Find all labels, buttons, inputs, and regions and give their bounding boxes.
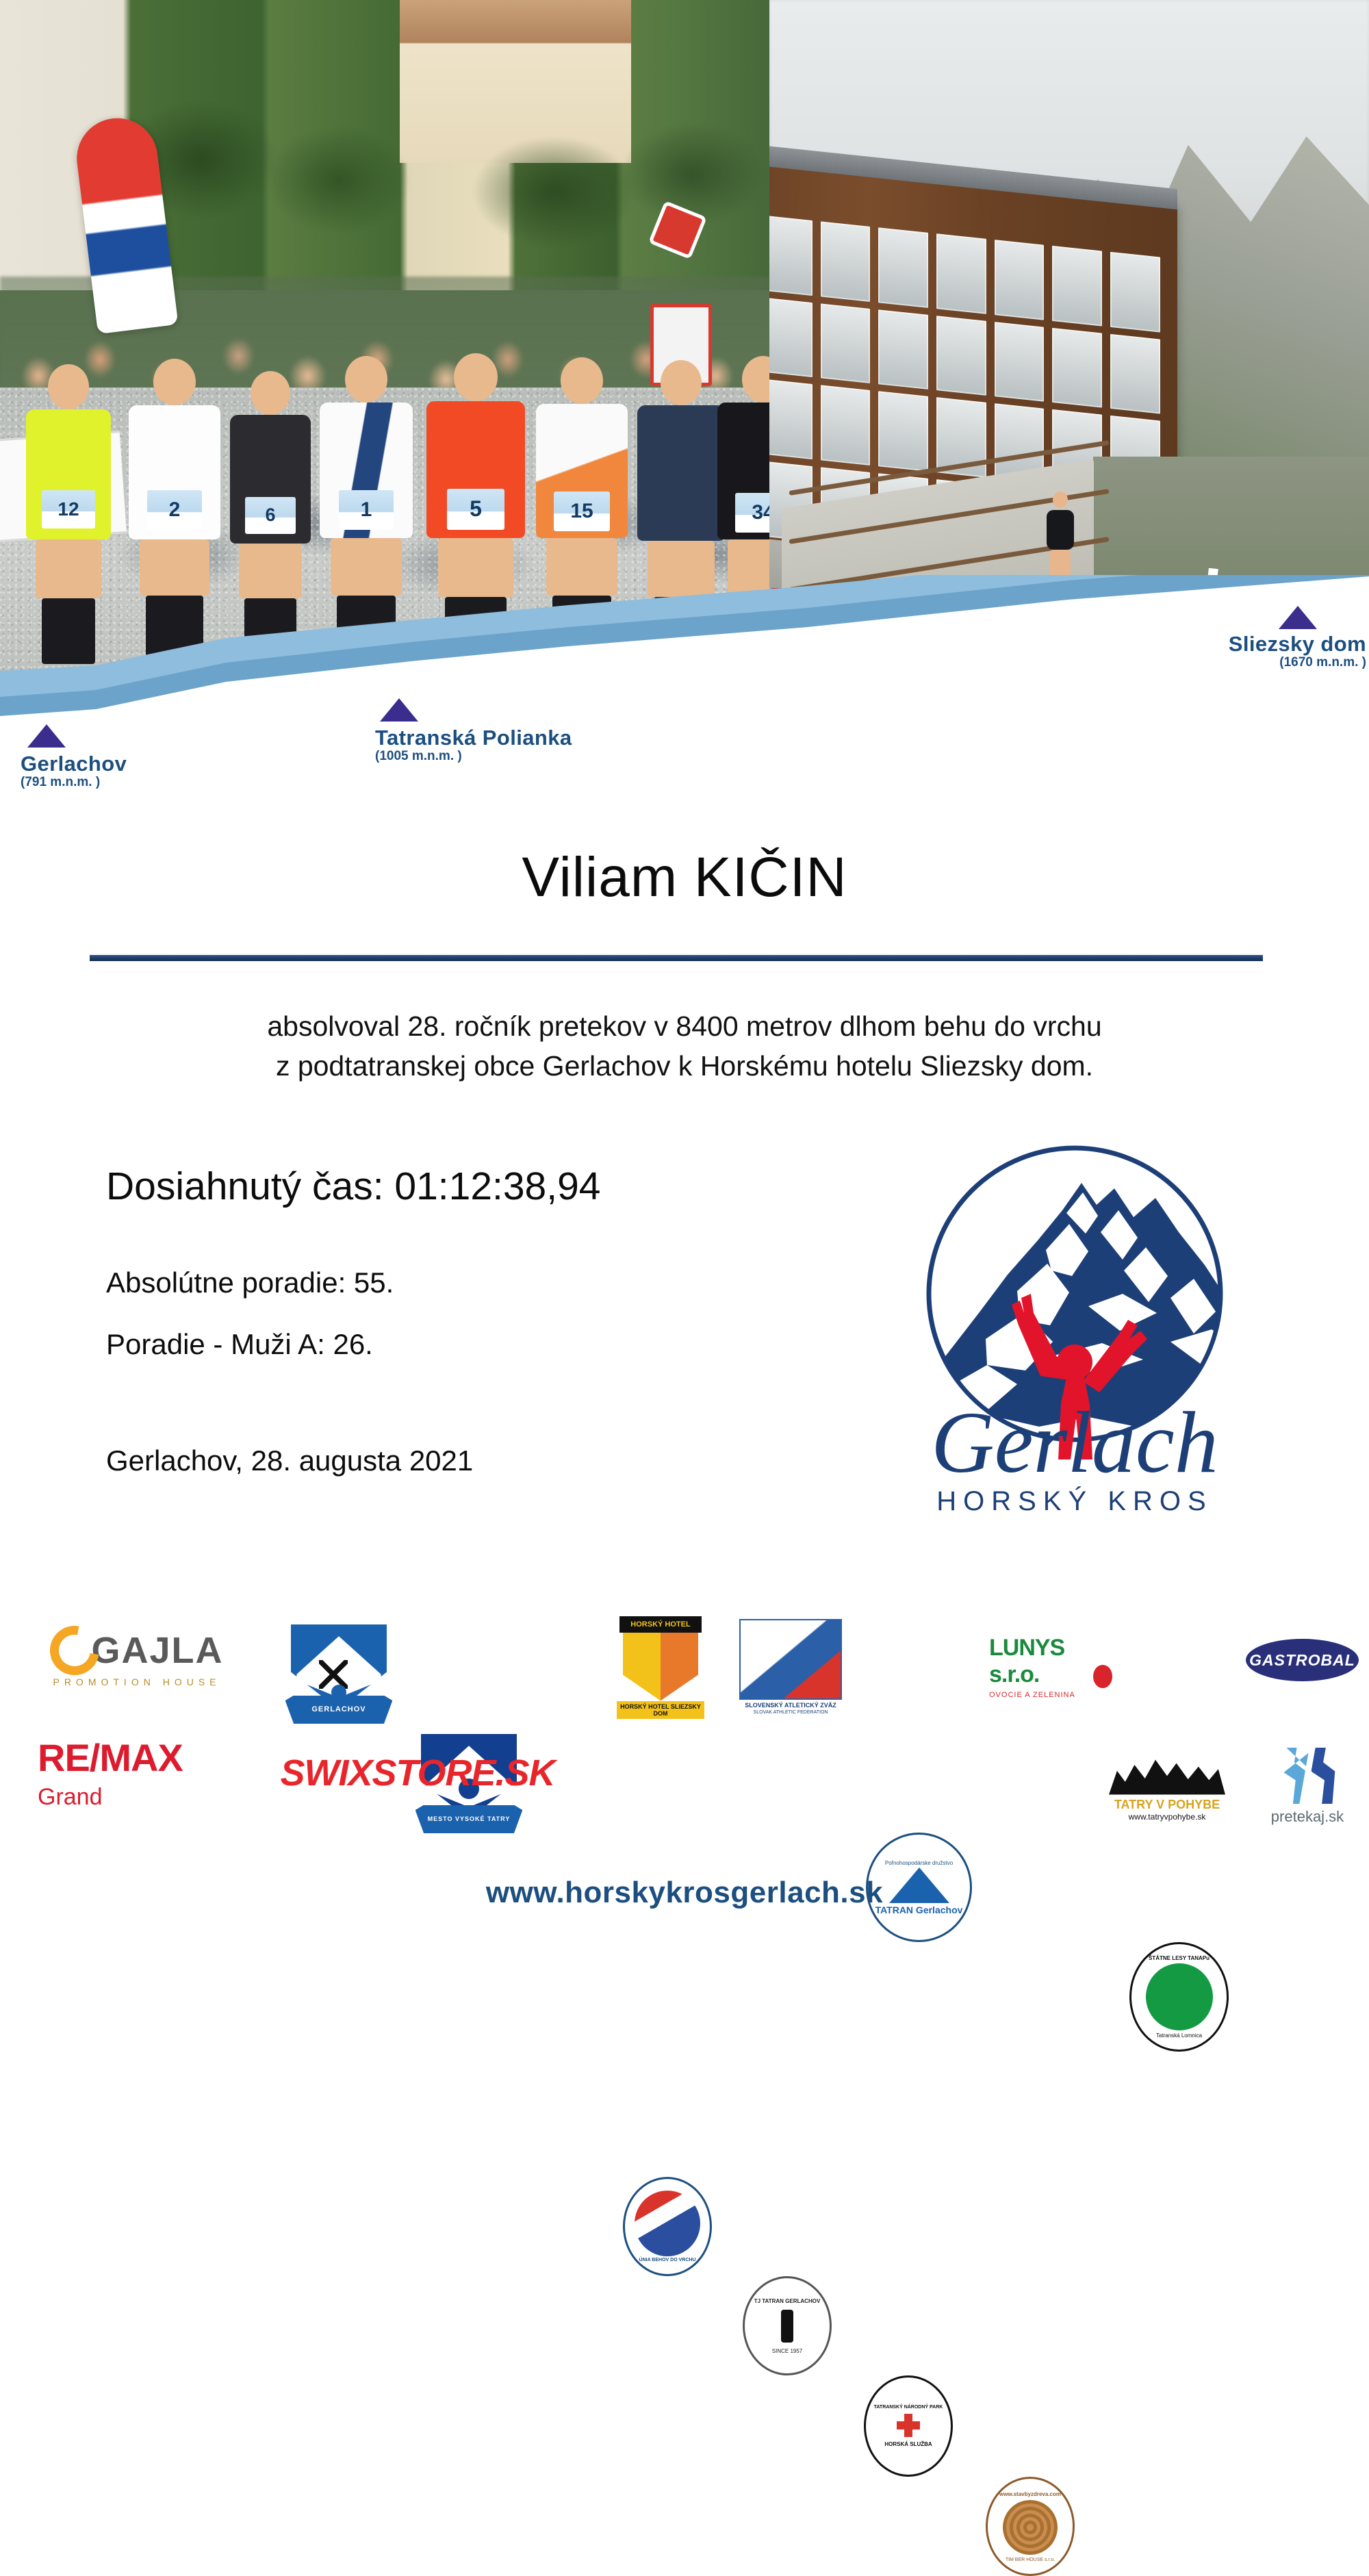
sponsor-name: TJ TATRAN GERLACHOV <box>754 2298 821 2304</box>
sponsor-tj-tatran-gerlachov: TJ TATRAN GERLACHOV SINCE 1957 <box>743 2276 832 2375</box>
runner-1: 12 <box>21 364 116 664</box>
category-rank: Poradie - Muži A: 26. <box>106 1328 373 1361</box>
sponsor-name: www.stavbyzdreva.com <box>999 2491 1061 2497</box>
sponsor-name: pretekaj.sk <box>1271 1808 1344 1826</box>
runner-4: 1 <box>315 356 418 664</box>
bib-number: 2 <box>147 490 202 530</box>
peak-altitude: (1670 m.n.m. ) <box>1144 656 1366 669</box>
bib-number: 34 <box>735 493 769 533</box>
crest-ribbon: GERLACHOV <box>285 1696 393 1724</box>
peak-name: Sliezsky dom <box>1144 633 1366 656</box>
sponsor-lunys: LUNYS s.r.o. OVOCIE A ZELENINA <box>989 1626 1112 1708</box>
peak-marker-triangle-sliezsky-dom <box>1279 606 1317 629</box>
sponsor-tagline: TIM BER HOUSE s.r.o. <box>1006 2558 1055 2562</box>
sponsor-statne-lesy-tanapu: ŠTÁTNE LESY TANAPu Tatranská Lomnica <box>1129 1942 1229 2052</box>
chamois-icon <box>1146 1963 1213 2030</box>
runner-5: 5 <box>421 353 530 664</box>
mountain-ridge-icon <box>1109 1752 1225 1795</box>
sponsor-name: TATRY V POHYBE <box>1114 1798 1220 1812</box>
sponsor-name: SWIXSTORE.SK <box>280 1752 554 1794</box>
skier-icon <box>781 2310 793 2343</box>
peak-altitude: (1005 m.n.m. ) <box>375 750 572 763</box>
peak-marker-triangle-tatranska-polianka <box>380 698 418 722</box>
sponsor-pretekaj-sk: pretekaj.sk <box>1256 1742 1359 1831</box>
sponsor-name: SLOVENSKÝ ATLETICKÝ ZVÄZ <box>745 1702 836 1709</box>
runner-6: 15 <box>530 357 633 664</box>
sponsor-name: GASTROBAL <box>1246 1639 1359 1681</box>
sponsor-slovak-athletic-federation: SLOVENSKÝ ATLETICKÝ ZVÄZ SLOVAK ATHLETIC… <box>736 1612 845 1722</box>
header-photo-band: 12 2 6 1 <box>0 0 1369 691</box>
sliezsky-dom-photo <box>769 0 1369 691</box>
certificate-description: absolvoval 28. ročník pretekov v 8400 me… <box>0 1006 1369 1086</box>
sponsor-gastrobal: GASTROBAL <box>1246 1638 1359 1682</box>
sponsor-tagline: SLOVAK ATHLETIC FEDERATION <box>754 1710 828 1715</box>
finish-time: Dosiahnutý čas: 01:12:38,94 <box>106 1164 601 1209</box>
sponsor-name: LUNYS s.r.o. <box>989 1635 1099 1688</box>
title-divider-rule <box>90 955 1263 961</box>
description-line-2: z podtatranskej obce Gerlachov k Horském… <box>0 1046 1369 1086</box>
sponsor-tagline: Poľnohospodárske družstvo <box>885 1860 953 1866</box>
bib-number: 5 <box>447 489 504 530</box>
apple-icon <box>1093 1665 1112 1688</box>
peak-name: Gerlachov <box>21 753 127 776</box>
sponsor-tatry-v-pohybe: TATRY V POHYBE www.tatryvpohybe.sk <box>1105 1742 1229 1831</box>
sponsor-unia-behov-do-vrchu: ÚNIA BEHOV DO VRCHU <box>623 2177 712 2276</box>
sponsor-tagline: Grand <box>38 1784 103 1811</box>
bib-number: 1 <box>339 490 394 530</box>
sponsor-name: ŠTÁTNE LESY TANAPu <box>1149 1955 1210 1961</box>
crest-ribbon: MESTO VYSOKÉ TATRY <box>415 1805 523 1834</box>
sponsor-tagline: SINCE 1957 <box>772 2348 802 2354</box>
runner-2: 2 <box>123 359 226 664</box>
sponsor-horska-sluzba: TATRANSKÝ NÁRODNÝ PARK HORSKÁ SLUŽBA <box>864 2375 953 2477</box>
sponsor-name: ÚNIA BEHOV DO VRCHU <box>639 2258 696 2262</box>
sponsor-swixstore: SWIXSTORE.SK <box>267 1746 568 1800</box>
sponsor-tagline: PROMOTION HOUSE <box>53 1676 220 1687</box>
sponsor-tagline: www.tatryvpohybe.sk <box>1129 1812 1206 1822</box>
place-and-date: Gerlachov, 28. augusta 2021 <box>106 1444 473 1477</box>
sponsor-name: GAJLA <box>91 1629 223 1672</box>
peak-label-gerlachov: Gerlachov (791 m.n.m. ) <box>21 753 127 789</box>
timber-rings-icon <box>1003 2500 1058 2555</box>
slovak-flag-mountain-icon <box>635 2191 700 2256</box>
gajla-swoosh-icon <box>40 1616 109 1685</box>
sponsor-name: TATRANSKÝ NÁRODNÝ PARK <box>874 2405 943 2410</box>
sponsor-tagline: HORSKÁ SLUŽBA <box>884 2441 932 2447</box>
bib-number: 15 <box>554 492 610 531</box>
peak-label-tatranska-polianka: Tatranská Polianka (1005 m.n.m. ) <box>375 727 572 763</box>
logo-wordmark: Gerlach <box>931 1394 1218 1491</box>
bib-number: 6 <box>245 497 296 534</box>
sponsor-remax: RE/MAX Grand <box>38 1732 236 1814</box>
sponsor-gajla: GAJLA PROMOTION HOUSE <box>38 1619 236 1694</box>
peak-altitude: (791 m.n.m. ) <box>21 776 127 789</box>
runner-3: 6 <box>226 371 315 664</box>
overall-rank: Absolútne poradie: 55. <box>106 1266 394 1299</box>
logo-subtitle: HORSKÝ KROS <box>936 1485 1212 1516</box>
bib-number: 12 <box>42 490 95 528</box>
gerlach-horsky-kros-logo: Gerlach HORSKÝ KROS <box>883 1130 1266 1540</box>
peak-marker-triangle-gerlachov <box>27 724 66 748</box>
sponsor-logo-strip: GAJLA PROMOTION HOUSE RE/MAX Grand GERLA… <box>0 1605 1369 1879</box>
crossed-hammers-icon <box>319 1660 348 1689</box>
runner-8: 34 <box>712 356 769 664</box>
sponsor-tagline: OVOCIE A ZELENINA <box>989 1691 1075 1699</box>
sponsor-tagline: Tatranská Lomnica <box>1156 2032 1202 2039</box>
sponsor-crest-gerlachov: GERLACHOV <box>291 1612 387 1722</box>
red-cross-icon <box>897 2414 920 2437</box>
running-figures-icon <box>1275 1748 1340 1804</box>
sponsor-sliezsky-dom: HORSKÝ HOTEL HORSKÝ HOTEL SLIEZSKY DOM <box>616 1611 705 1724</box>
hotel-banner-label: HORSKÝ HOTEL <box>619 1616 702 1633</box>
runner-on-bridge <box>1045 492 1075 588</box>
peak-label-sliezsky-dom: Sliezsky dom (1670 m.n.m. ) <box>1144 633 1366 669</box>
sponsor-stavby-z-dreva: www.stavbyzdreva.com TIM BER HOUSE s.r.o… <box>986 2477 1075 2576</box>
peak-name: Tatranská Polianka <box>375 727 572 750</box>
athlete-name: Viliam KIČIN <box>0 845 1369 910</box>
description-line-1: absolvoval 28. ročník pretekov v 8400 me… <box>0 1006 1369 1046</box>
race-start-photo: 12 2 6 1 <box>0 0 769 691</box>
crest-ribbon: HORSKÝ HOTEL SLIEZSKY DOM <box>617 1701 704 1719</box>
sponsor-name: RE/MAX <box>38 1736 183 1779</box>
event-website-url: www.horskykrosgerlach.sk <box>0 1876 1369 1910</box>
shield-shape <box>623 1633 698 1701</box>
running-figures-icon <box>739 1619 842 1700</box>
